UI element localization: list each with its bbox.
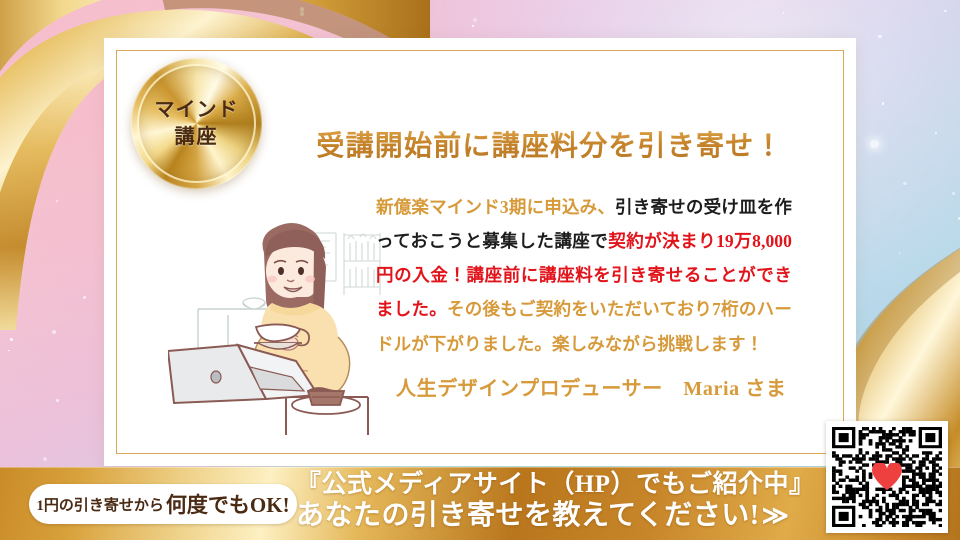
woman-with-laptop-illustration [168,205,390,435]
badge-line-2: 講座 [155,124,239,151]
ok-pill-badge: 1円の引き寄せから 何度でもOK! [29,484,297,524]
testimonial-segment-0: 新億楽マインド3期に申込み、 [376,197,615,217]
pill-big-label: 何度でもOK! [166,489,290,519]
banner-text-block: 『公式メディアサイト（HP）でもご紹介中』 あなたの引き寄せを教えてください! … [296,471,816,531]
bottom-banner[interactable]: 1円の引き寄せから 何度でもOK! 『公式メディアサイト（HP）でもご紹介中』 … [0,467,960,540]
testimonial-text: 新億楽マインド3期に申込み、引き寄せの受け皿を作っておこうと募集した講座で契約が… [376,190,792,361]
mind-course-badge: マインド 講座 [131,58,262,189]
qr-canvas [832,427,942,527]
testimonial-attribution: 人生デザインプロデューサー Maria さま [396,372,796,401]
banner-line-2-label: あなたの引き寄せを教えてください! [296,500,760,532]
qr-code[interactable] [826,421,948,533]
pill-small-label: 1円の引き寄せから [36,494,164,515]
double-chevron-right-icon: ≫ [762,501,785,531]
banner-stage: マインド 講座 受講開始前に講座料分を引き寄せ！ 新億楽マインド3期に申込み、引… [0,0,960,540]
badge-text: マインド 講座 [155,97,239,151]
banner-line-2: あなたの引き寄せを教えてください! ≫ [296,500,816,532]
badge-line-1: マインド [155,97,239,124]
page-title: 受講開始前に講座料分を引き寄せ！ [300,124,800,164]
heart-icon [872,463,902,491]
banner-line-1: 『公式メディアサイト（HP）でもご紹介中』 [296,471,816,500]
